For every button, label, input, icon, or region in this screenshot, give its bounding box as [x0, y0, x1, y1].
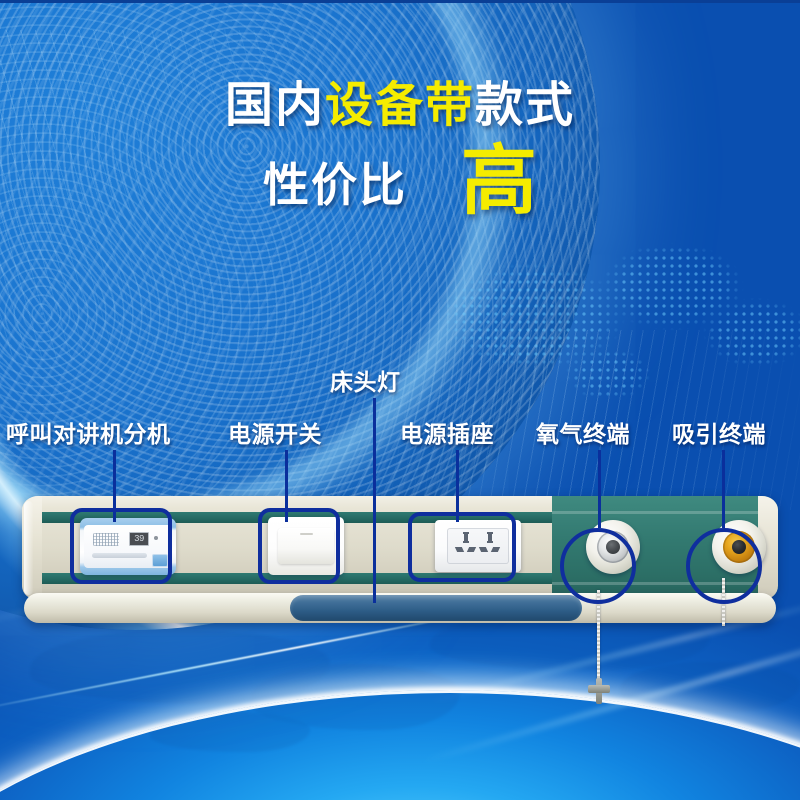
headline-part-1: 国内: [225, 79, 325, 132]
bedside-lamp-light-strip: [290, 595, 582, 621]
power-socket-unit[interactable]: [435, 520, 521, 572]
leader-line-power-switch: [285, 450, 288, 522]
socket-pin-left: [479, 547, 488, 552]
socket-pin-right: [491, 547, 500, 552]
oxygen-outlet-core: [606, 540, 620, 554]
promo-banner: 国内设备带款式 性价比 高 呼叫对讲机分机 电源开关 床头灯 电源插座 氧气终端…: [0, 0, 800, 800]
callout-bedside-lamp: 床头灯: [330, 363, 401, 397]
rocker-switch-icon[interactable]: [278, 528, 334, 564]
socket-pin-right: [467, 547, 476, 552]
suction-vacuum-outlet-icon: [723, 531, 755, 563]
headline-emphasis: 高: [461, 146, 537, 218]
intercom-display: 39: [129, 532, 149, 546]
socket-pin-vertical: [464, 533, 468, 542]
leader-line-oxygen-terminal: [598, 450, 601, 528]
leader-line-power-socket: [456, 450, 459, 522]
headline-line-2: 性价比 高: [0, 146, 800, 218]
socket-outlet-2: [479, 533, 501, 557]
intercom-faceplate: 39: [84, 525, 172, 568]
socket-pin-vertical: [488, 533, 492, 542]
callout-power-socket: 电源插座: [400, 415, 494, 449]
headline-subtext: 性价比: [263, 149, 407, 215]
headline-part-2: 设备带: [325, 79, 475, 132]
headline-block: 国内设备带款式 性价比 高: [0, 82, 800, 218]
bar-left-edge-highlight: [24, 501, 33, 595]
callout-nurse-call-intercom: 呼叫对讲机分机: [6, 415, 171, 449]
halftone-world-map: [420, 190, 800, 420]
leader-line-bedside-lamp: [373, 398, 376, 603]
pull-cord-secondary: [722, 578, 725, 626]
power-switch-unit[interactable]: [268, 517, 344, 575]
medical-equipment-bar: 39: [22, 496, 778, 628]
nurse-call-intercom-unit[interactable]: 39: [80, 518, 176, 575]
oxygen-gas-outlet-icon: [597, 531, 629, 563]
pull-cord-plug-icon[interactable]: [588, 678, 610, 704]
universal-socket-icon: [447, 528, 509, 564]
status-led-icon: [154, 536, 158, 540]
callout-oxygen-terminal: 氧气终端: [536, 415, 630, 449]
call-button[interactable]: [152, 554, 168, 567]
socket-pin-left: [455, 547, 464, 552]
leader-line-intercom: [113, 450, 116, 522]
top-divider: [0, 0, 800, 3]
socket-outlet-1: [455, 533, 477, 557]
callout-suction-terminal: 吸引终端: [672, 415, 766, 449]
callout-power-switch: 电源开关: [228, 415, 322, 449]
speaker-grille-icon: [93, 533, 119, 546]
leader-line-suction-terminal: [722, 450, 725, 528]
suction-terminal-unit[interactable]: [712, 520, 766, 574]
suction-outlet-core: [732, 540, 746, 554]
pull-cord[interactable]: [597, 590, 600, 688]
oxygen-terminal-unit[interactable]: [586, 520, 640, 574]
intercom-slot: [92, 553, 147, 558]
headline-part-3: 款式: [475, 79, 575, 132]
headline-line-1: 国内设备带款式: [0, 82, 800, 130]
plug-horizontal-arm: [588, 685, 610, 693]
